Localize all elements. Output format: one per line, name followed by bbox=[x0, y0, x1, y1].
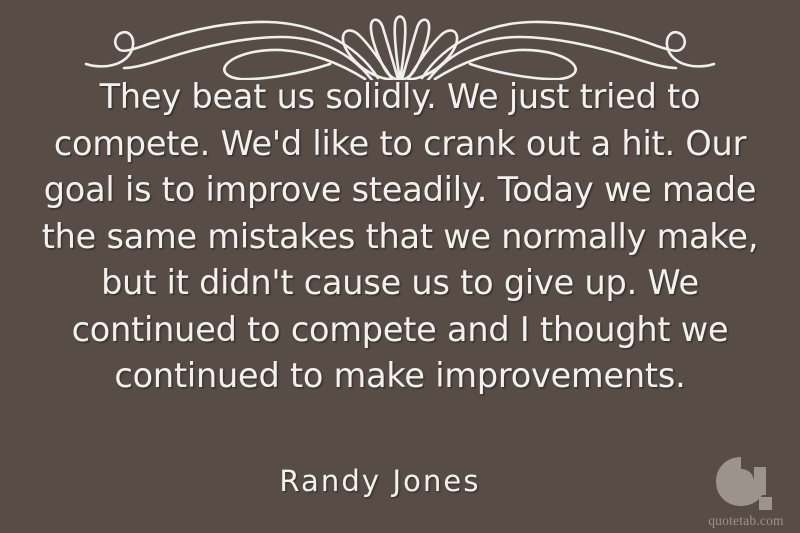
author-name: Randy Jones bbox=[30, 464, 730, 498]
author-attribution: Randy Jones bbox=[30, 464, 730, 498]
brand-site-name: quotetab.com bbox=[700, 513, 792, 529]
quote-text: They beat us solidly. We just tried to c… bbox=[30, 74, 770, 400]
flourish-divider-ornament bbox=[0, 8, 800, 80]
quote-body: They beat us solidly. We just tried to c… bbox=[30, 74, 770, 400]
brand-watermark[interactable]: quotetab.com bbox=[700, 453, 792, 529]
quotetab-q-logo-icon bbox=[713, 453, 779, 511]
quote-card: They beat us solidly. We just tried to c… bbox=[0, 0, 800, 533]
